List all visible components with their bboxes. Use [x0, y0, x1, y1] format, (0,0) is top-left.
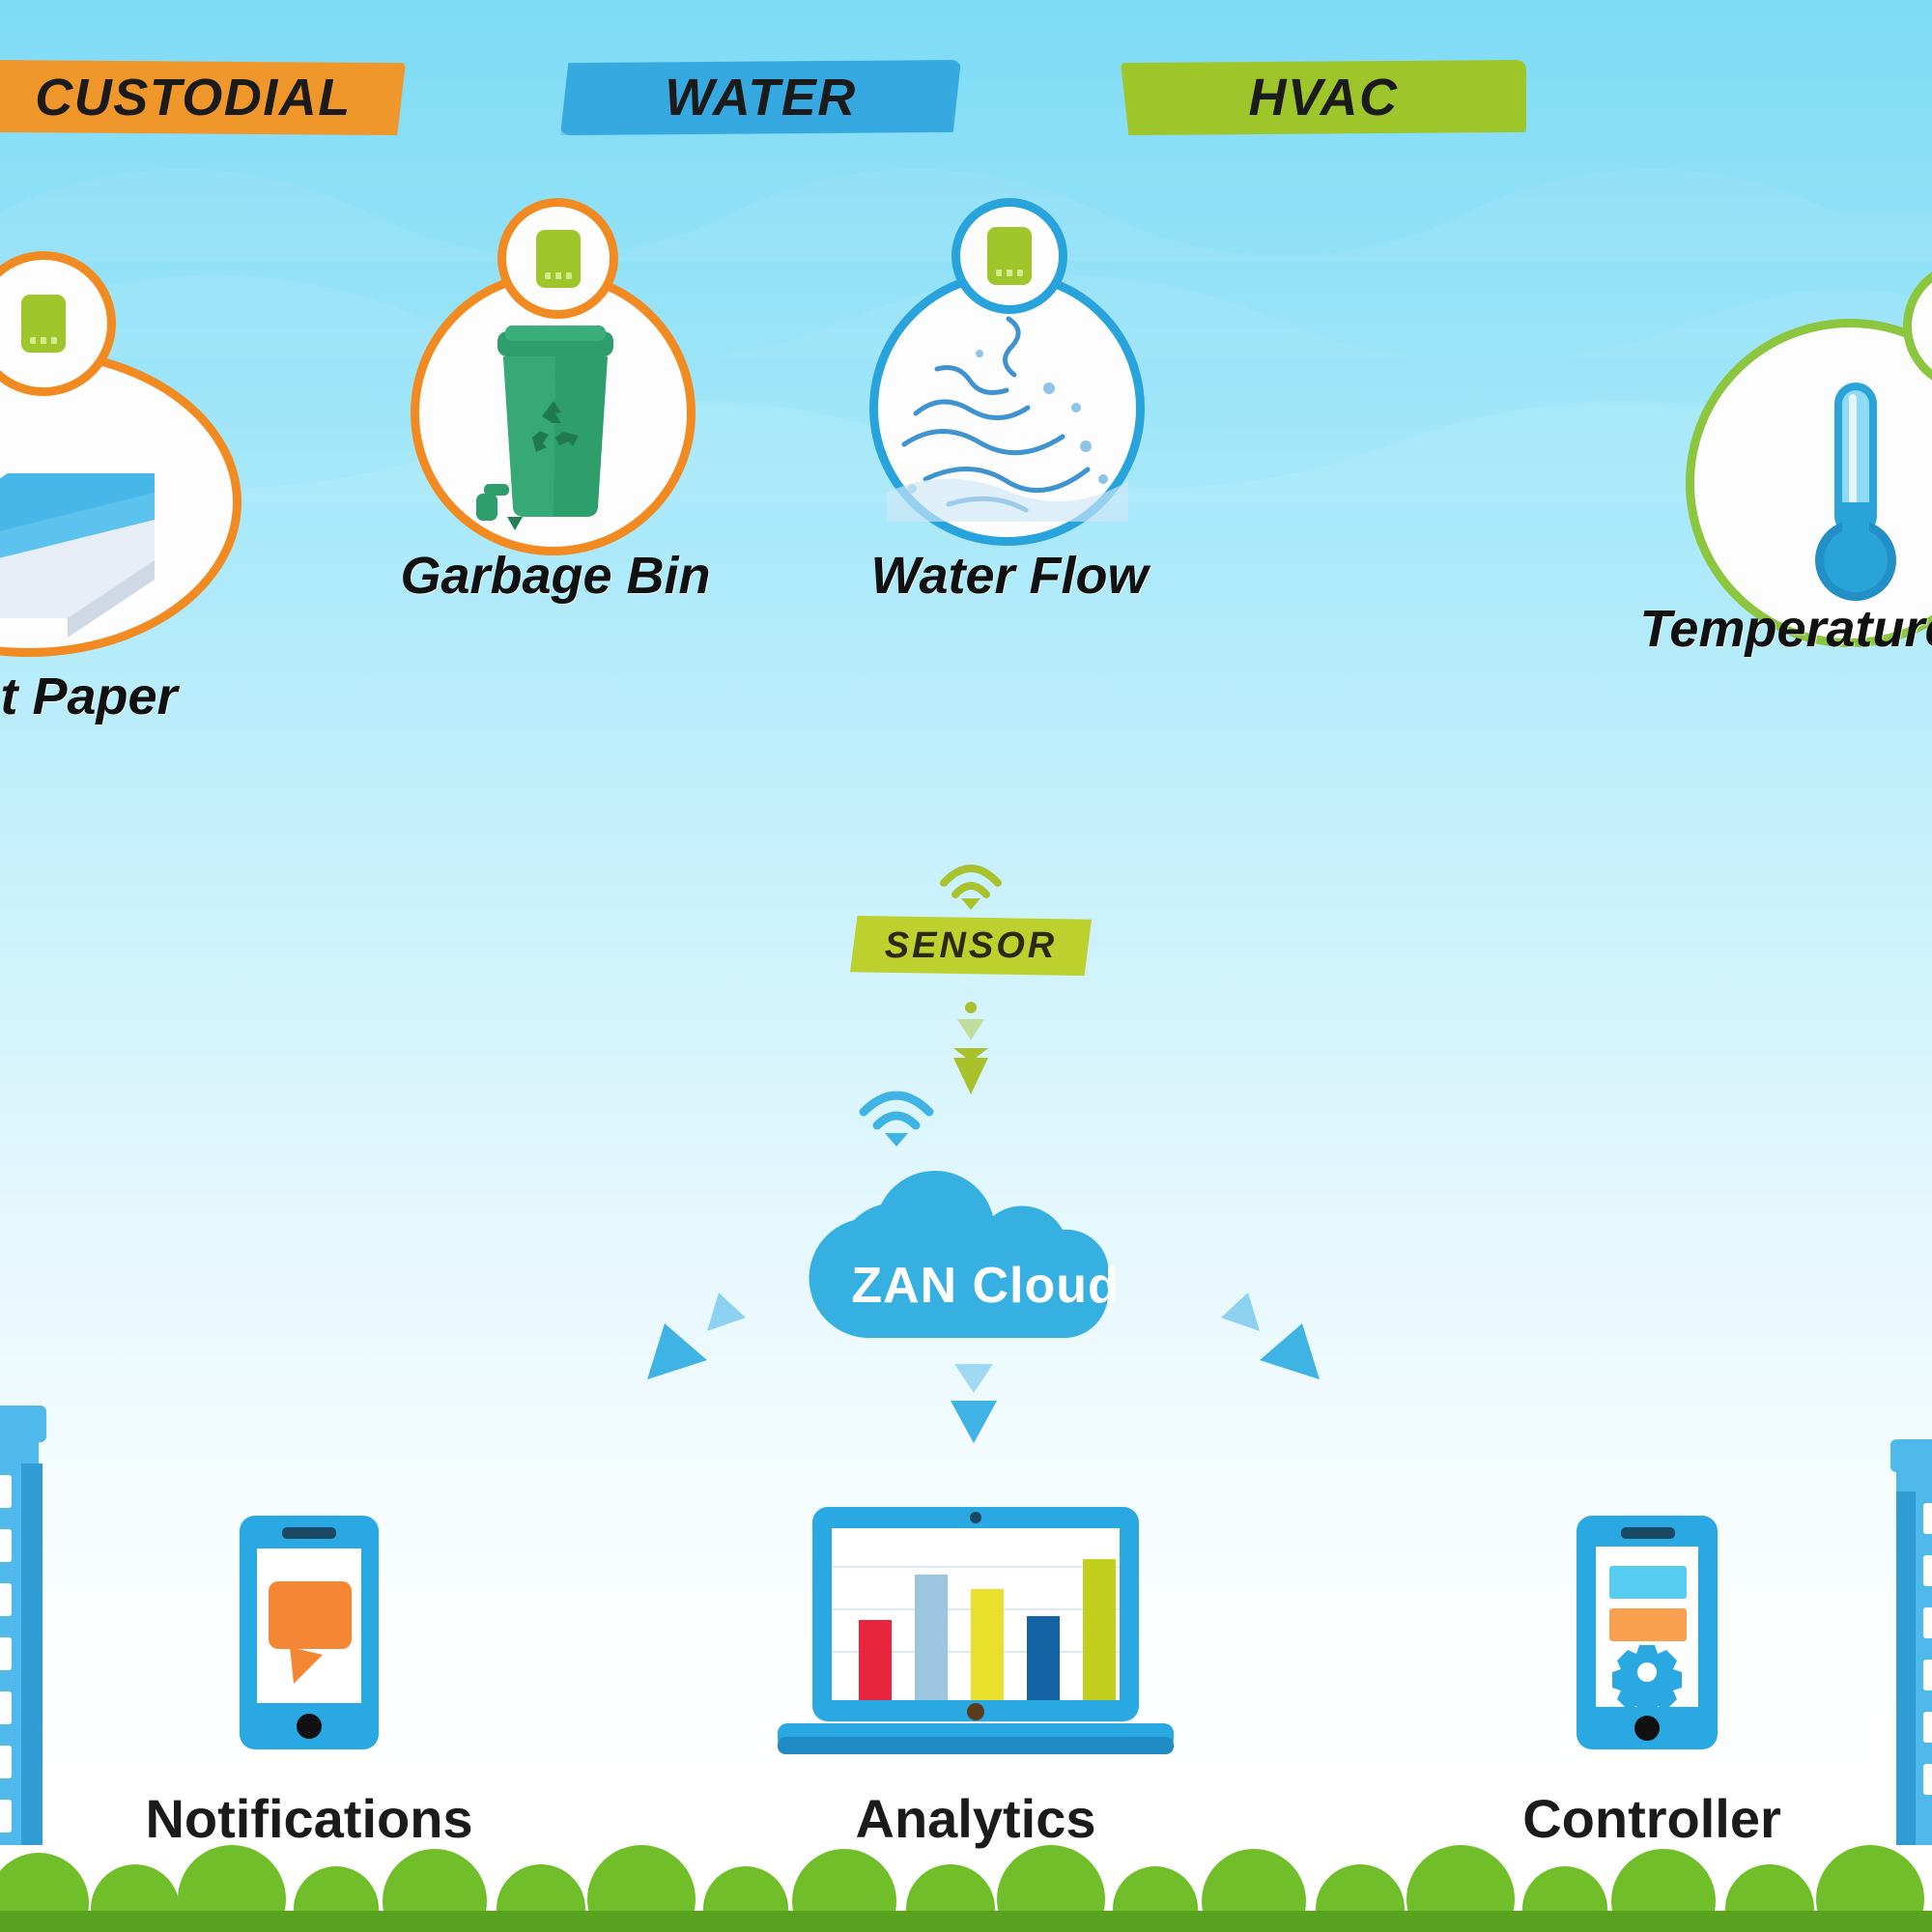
- sensor-tag[interactable]: SENSOR: [850, 916, 1092, 976]
- output-controller-icon[interactable]: [1567, 1512, 1726, 1758]
- sensor-node-temperature[interactable]: [1686, 261, 1932, 647]
- infographic-canvas: CUSTODIAL WATER HVAC Toilet Paper: [0, 0, 1932, 1932]
- wifi-signal-icon: [932, 850, 1009, 912]
- chevron-down-arrow-icon: [945, 1360, 1003, 1457]
- sensor-node-garbage-bin-label: Garbage Bin: [362, 546, 749, 606]
- chevron-left-arrow-icon: [626, 1287, 752, 1393]
- sensor-chip-icon: [987, 227, 1032, 285]
- sensor-node-toilet-paper-label: Toilet Paper: [0, 667, 280, 726]
- building-right-icon: [1889, 1439, 1932, 1845]
- garbage-bin-icon: [470, 324, 639, 531]
- output-analytics-icon[interactable]: [778, 1507, 1174, 1773]
- category-banner-hvac[interactable]: HVAC: [1121, 60, 1526, 135]
- sensor-chip-icon: [536, 230, 581, 288]
- grass-decoration: [0, 1816, 1932, 1932]
- garbage-bin-sensor-badge[interactable]: [497, 198, 618, 319]
- toilet-paper-roll-icon: [0, 415, 182, 638]
- sensor-chip-icon: [21, 295, 66, 353]
- thermometer-icon: [1792, 377, 1918, 613]
- category-banner-water-label: WATER: [560, 60, 961, 135]
- sensor-tag-label: SENSOR: [885, 925, 1057, 966]
- phone-message-icon: [232, 1512, 386, 1753]
- category-banner-hvac-label: HVAC: [1121, 60, 1526, 135]
- phone-gear-icon: [1567, 1512, 1726, 1753]
- laptop-bar-chart-icon: [778, 1507, 1174, 1768]
- cloud-shape: [792, 1135, 1179, 1357]
- category-banner-custodial[interactable]: CUSTODIAL: [0, 60, 406, 135]
- sensor-node-toilet-paper[interactable]: [0, 280, 241, 657]
- sensor-node-water-flow-label: Water Flow: [826, 546, 1193, 606]
- sensor-node-garbage-bin[interactable]: [411, 198, 700, 546]
- chevron-down-arrow-icon: [942, 1000, 1000, 1101]
- water-flow-sensor-badge[interactable]: [952, 198, 1067, 314]
- category-banner-custodial-label: CUSTODIAL: [0, 60, 406, 135]
- building-left-icon: [0, 1406, 48, 1845]
- sensor-node-water-flow[interactable]: [869, 198, 1150, 546]
- water-splash-icon: [887, 299, 1128, 522]
- zan-cloud-label: ZAN Cloud: [792, 1257, 1179, 1315]
- category-banner-water[interactable]: WATER: [560, 60, 961, 135]
- sensor-node-temperature-label: Temperature: [1546, 599, 1932, 659]
- chevron-right-arrow-icon: [1215, 1287, 1341, 1393]
- zan-cloud[interactable]: ZAN Cloud: [792, 1135, 1198, 1377]
- output-notifications-icon[interactable]: [232, 1512, 386, 1758]
